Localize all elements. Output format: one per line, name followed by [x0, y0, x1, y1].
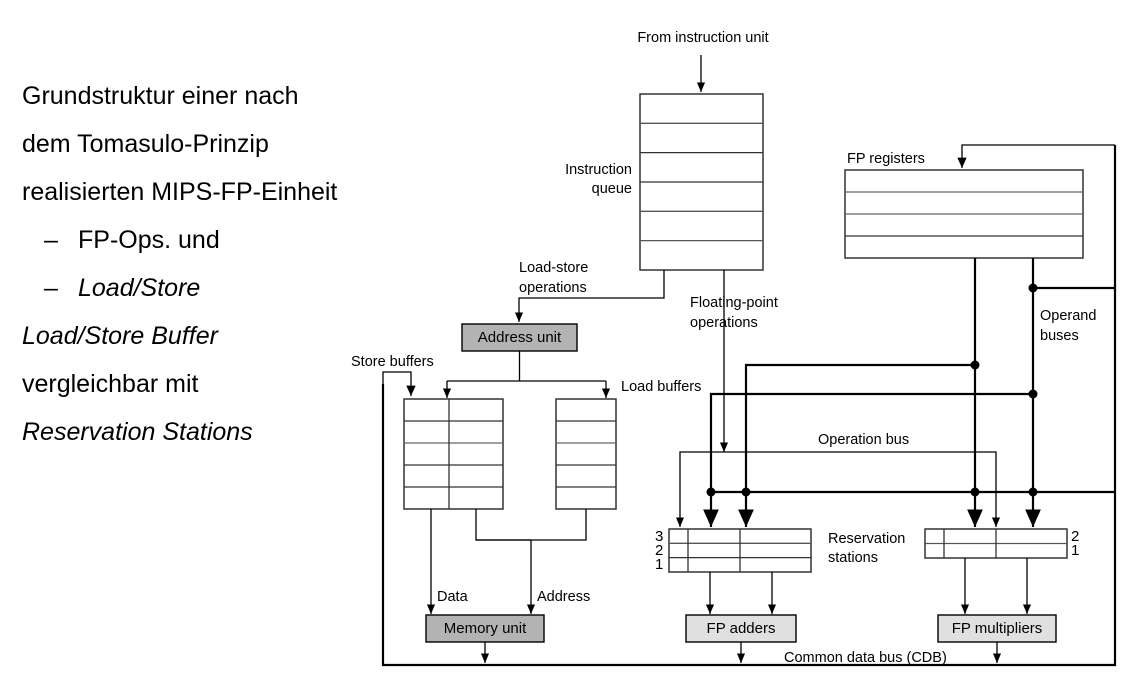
label-common-data-bus: Common data bus (CDB) [784, 650, 947, 667]
reservation-stations-mult-table [925, 529, 1067, 558]
label-load-store-operations-line2: operations [519, 280, 587, 297]
instruction-queue-box [640, 94, 763, 270]
fp-registers-table [845, 170, 1083, 258]
label-floating-point-operations-line1: Floating-point [690, 295, 778, 312]
cdb-to-fp-registers [962, 145, 1115, 168]
rs-mult-row-label-1: 1 [1071, 543, 1079, 559]
label-operand-buses-line1: Operand [1040, 308, 1096, 325]
rs-adder-row-label-1: 1 [655, 557, 663, 573]
label-fp-adders: FP adders [686, 615, 796, 642]
load-buffers-table [556, 399, 616, 509]
label-data: Data [437, 589, 468, 606]
label-from-instruction-unit: From instruction unit [613, 30, 793, 47]
label-load-buffers: Load buffers [621, 379, 701, 396]
label-address-unit: Address unit [462, 324, 577, 351]
store-buffer-feedback-line [383, 372, 411, 396]
label-address: Address [537, 589, 590, 606]
label-load-store-operations-line1: Load-store [519, 260, 588, 277]
label-memory-unit: Memory unit [426, 615, 544, 642]
label-operand-buses-line2: buses [1040, 328, 1079, 345]
label-reservation-stations-line2: stations [828, 550, 878, 567]
label-instruction-queue-line1: Instruction [490, 162, 632, 179]
label-reservation-stations-line1: Reservation [828, 531, 905, 548]
label-operation-bus: Operation bus [818, 432, 909, 449]
slide-canvas: Grundstruktur einer nach dem Tomasulo-Pr… [0, 0, 1129, 682]
label-fp-multipliers: FP multipliers [938, 615, 1056, 642]
operation-bus-left-feed [680, 452, 724, 527]
operand-buses [975, 258, 1033, 527]
label-fp-registers: FP registers [847, 151, 925, 168]
operation-bus-right-feed [724, 452, 996, 527]
label-floating-point-operations-line2: operations [690, 315, 758, 332]
label-instruction-queue-line2: queue [490, 181, 632, 198]
label-store-buffers: Store buffers [351, 354, 434, 371]
operand-bus-1 [711, 394, 1033, 527]
store-buffers-table [404, 399, 503, 509]
reservation-stations-adder-table [669, 529, 811, 572]
